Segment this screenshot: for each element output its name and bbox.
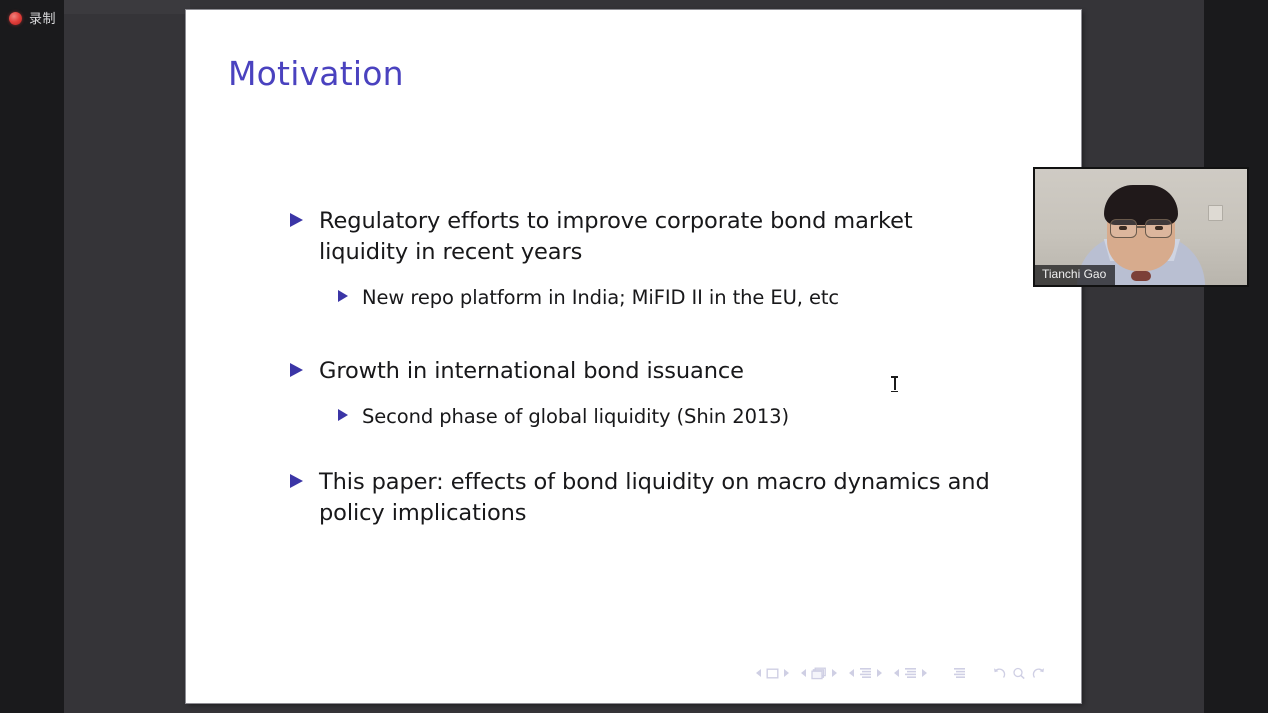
next-section-arrow-icon[interactable] <box>922 669 927 677</box>
triangle-bullet-icon <box>290 474 303 488</box>
subbullet-text: New repo platform in India; MiFID II in … <box>362 284 839 311</box>
prev-frame-arrow-icon[interactable] <box>801 669 806 677</box>
bullet-group-1: Regulatory efforts to improve corporate … <box>290 206 990 311</box>
bullet-item-level2: New repo platform in India; MiFID II in … <box>338 284 990 311</box>
subbullet-text: Second phase of global liquidity (Shin 2… <box>362 403 789 430</box>
triangle-subbullet-icon <box>338 290 348 302</box>
stage-top-patch <box>64 0 190 14</box>
slide-icon[interactable] <box>766 668 779 679</box>
subsection-icon[interactable] <box>859 667 872 680</box>
frame-nav-group[interactable] <box>801 667 837 680</box>
bullet-item-level1: Regulatory efforts to improve corporate … <box>290 206 990 268</box>
recording-indicator[interactable]: 录制 <box>9 9 56 27</box>
section-nav-group[interactable] <box>894 667 927 680</box>
bullet-text: Growth in international bond issuance <box>319 356 744 387</box>
document-icon[interactable] <box>953 667 966 680</box>
slide-title: Motivation <box>228 54 404 93</box>
triangle-bullet-icon <box>290 363 303 377</box>
participant-name-label: Tianchi Gao <box>1035 265 1115 285</box>
bullet-item-level1: This paper: effects of bond liquidity on… <box>290 467 990 529</box>
glasses-icon <box>1110 219 1172 236</box>
participant-eye-right <box>1155 226 1163 230</box>
prev-section-arrow-icon[interactable] <box>894 669 899 677</box>
bullet-text: Regulatory efforts to improve corporate … <box>319 206 990 268</box>
presentation-slide[interactable]: Motivation Regulatory efforts to improve… <box>186 10 1081 703</box>
left-rail <box>0 0 64 713</box>
frame-icon[interactable] <box>811 667 827 680</box>
bullet-group-3: This paper: effects of bond liquidity on… <box>290 467 990 529</box>
participant-video-tile[interactable]: Tianchi Gao <box>1033 167 1249 287</box>
recording-label: 录制 <box>29 11 56 26</box>
participant-mouth <box>1131 271 1151 281</box>
right-rail <box>1204 0 1268 713</box>
zoom-meeting-window: 录制 Motivation Regulatory efforts to impr… <box>0 0 1268 713</box>
next-frame-arrow-icon[interactable] <box>832 669 837 677</box>
bullet-item-level1: Growth in international bond issuance <box>290 356 990 387</box>
bullet-text: This paper: effects of bond liquidity on… <box>319 467 990 529</box>
glasses-lens-right <box>1145 219 1172 238</box>
back-icon[interactable] <box>992 667 1007 680</box>
section-icon[interactable] <box>904 667 917 680</box>
prev-subsection-arrow-icon[interactable] <box>849 669 854 677</box>
search-icon[interactable] <box>1012 667 1026 680</box>
next-subsection-arrow-icon[interactable] <box>877 669 882 677</box>
participant-eye-left <box>1119 226 1127 230</box>
beamer-navigation-bar[interactable] <box>756 663 1046 683</box>
prev-slide-arrow-icon[interactable] <box>756 669 761 677</box>
wall-switch-icon <box>1208 205 1223 221</box>
subsection-nav-group[interactable] <box>849 667 882 680</box>
record-dot-icon <box>9 12 22 25</box>
bullet-group-2: Growth in international bond issuance Se… <box>290 356 990 430</box>
next-slide-arrow-icon[interactable] <box>784 669 789 677</box>
forward-icon[interactable] <box>1031 667 1046 680</box>
bullet-item-level2: Second phase of global liquidity (Shin 2… <box>338 403 990 430</box>
glasses-lens-left <box>1110 219 1137 238</box>
document-nav-group[interactable] <box>953 667 966 680</box>
triangle-subbullet-icon <box>338 409 348 421</box>
history-nav-group[interactable] <box>992 667 1046 680</box>
triangle-bullet-icon <box>290 213 303 227</box>
slide-nav-group[interactable] <box>756 668 789 679</box>
